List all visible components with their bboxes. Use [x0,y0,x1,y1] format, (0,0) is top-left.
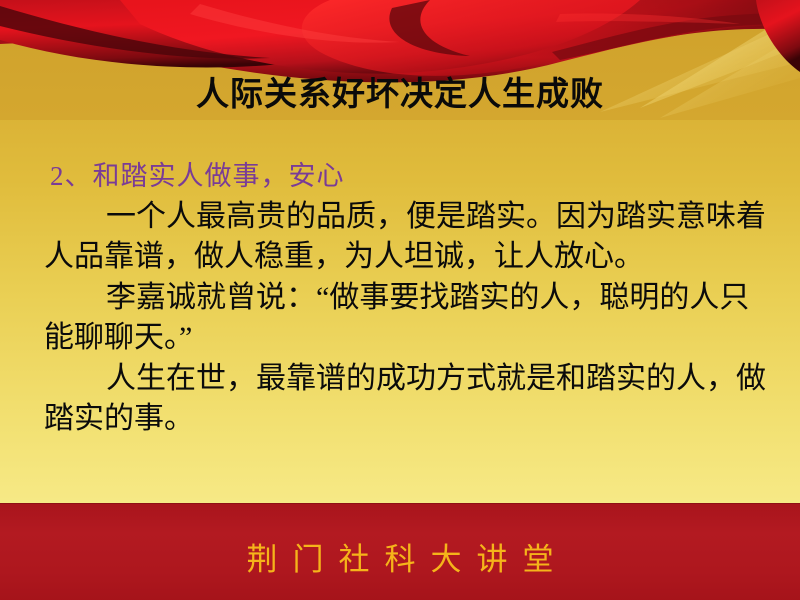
footer-title: 荆门社科大讲堂 [0,534,800,579]
body-paragraph-3: 人生在世，最靠谱的成功方式就是和踏实的人，做踏实的事。 [44,359,774,439]
section-subheading: 2、和踏实人做事，安心 [50,157,774,195]
slide-body: 2、和踏实人做事，安心 一个人最高贵的品质，便是踏实。因为踏实意味着人品靠谱，做… [44,157,774,439]
body-paragraph-2: 李嘉诚就曾说：“做事要找踏实的人，聪明的人只能聊聊天。” [44,278,774,358]
body-paragraph-1: 一个人最高贵的品质，便是踏实。因为踏实意味着人品靠谱，做人稳重，为人坦诚，让人放… [44,197,774,277]
footer-band: 荆门社科大讲堂 [0,503,800,600]
presentation-slide: 人际关系好坏决定人生成败 2、和踏实人做事，安心 一个人最高贵的品质，便是踏实。… [0,0,800,600]
slide-title: 人际关系好坏决定人生成败 [0,74,800,114]
